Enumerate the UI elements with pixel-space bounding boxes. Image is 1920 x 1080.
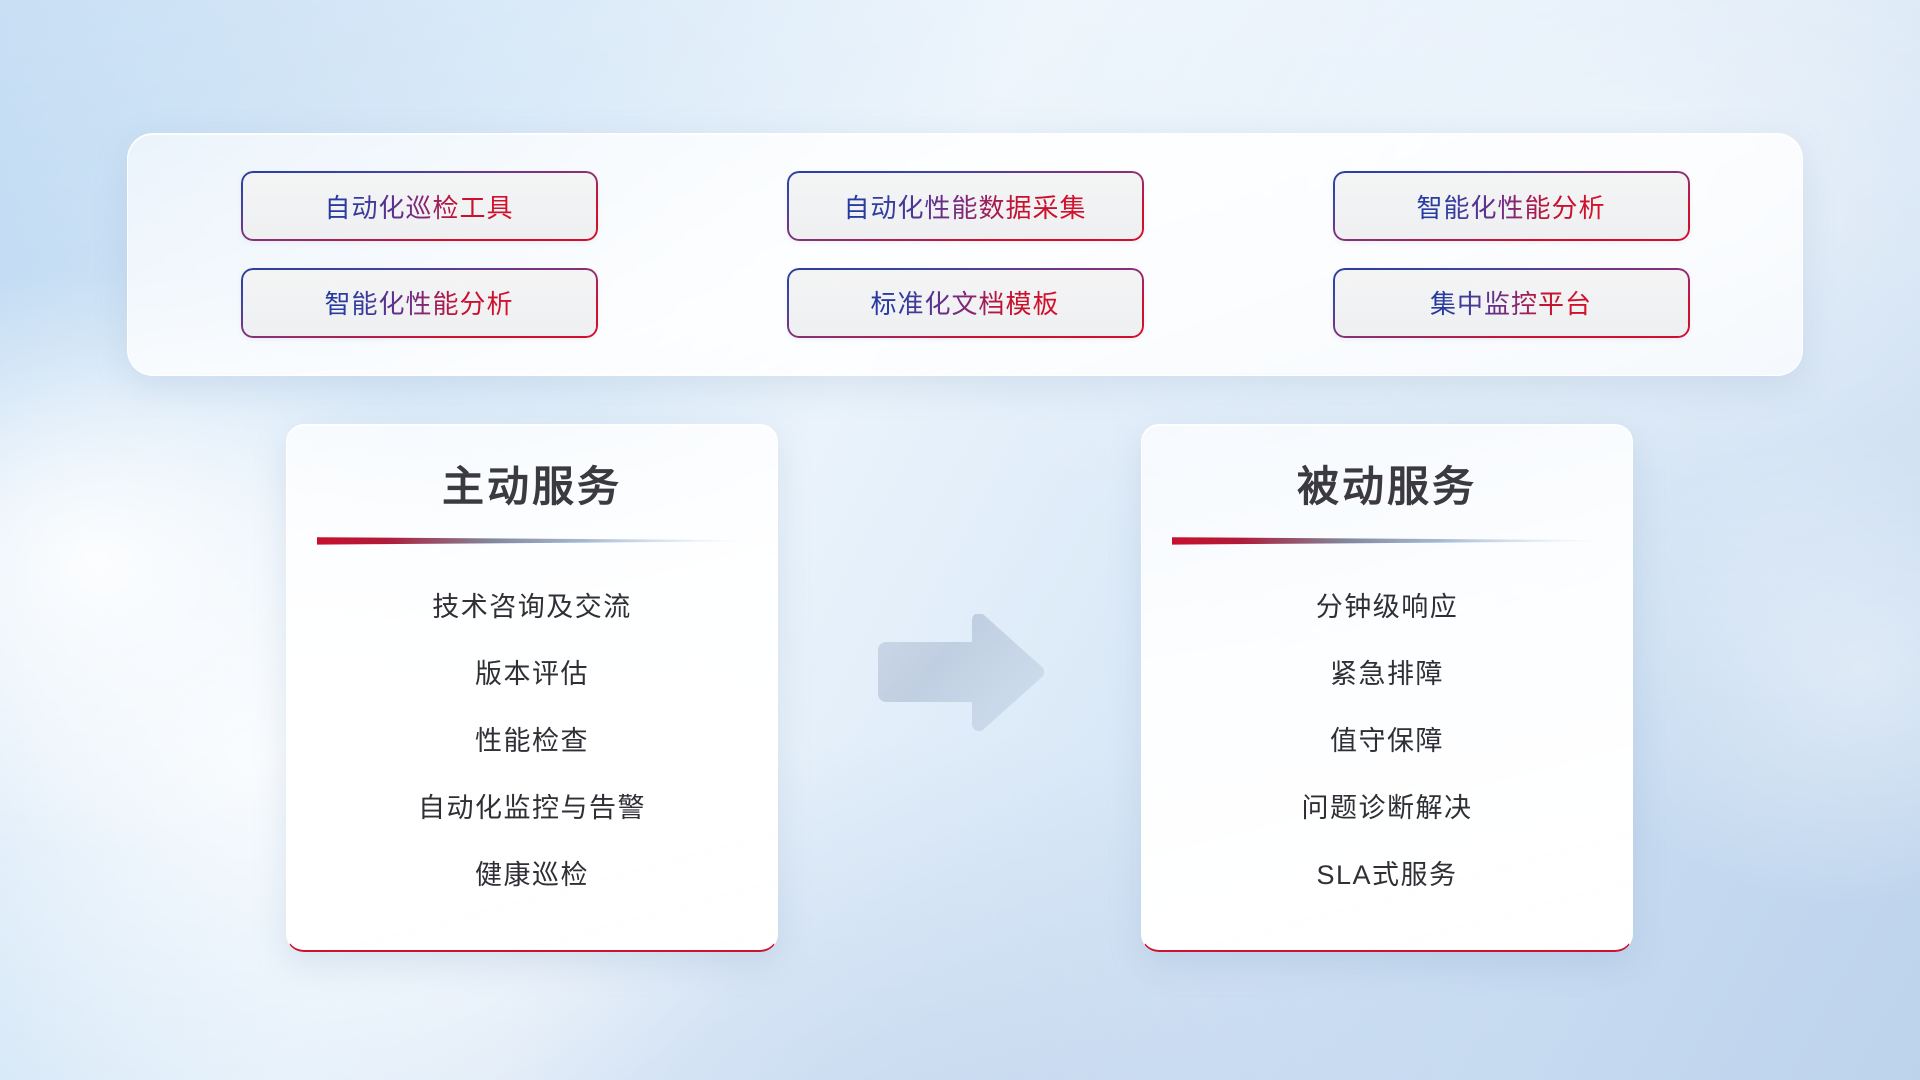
list-item[interactable]: 分钟级响应	[1142, 571, 1632, 638]
right-arrow-icon	[872, 614, 1048, 732]
list-item[interactable]: 版本评估	[287, 638, 777, 705]
capability-chip-label: 集中监控平台	[1430, 284, 1592, 321]
list-item[interactable]: 技术咨询及交流	[287, 571, 777, 638]
card-item-list: 技术咨询及交流 版本评估 性能检查 自动化监控与告警 健康巡检	[287, 571, 777, 906]
list-item[interactable]: 紧急排障	[1142, 638, 1632, 705]
capability-chip-4[interactable]: 智能化性能分析	[241, 268, 598, 338]
card-item-list: 分钟级响应 紧急排障 值守保障 问题诊断解决 SLA式服务	[1142, 571, 1632, 906]
capability-chip-label: 自动化性能数据采集	[843, 188, 1086, 225]
capability-panel: 自动化巡检工具 自动化性能数据采集 智能化性能分析 智能化性能分析 标准化文档模…	[127, 133, 1803, 376]
list-item[interactable]: 自动化监控与告警	[287, 772, 777, 839]
capability-chip-2[interactable]: 自动化性能数据采集	[787, 171, 1144, 241]
capability-chip-5[interactable]: 标准化文档模板	[787, 268, 1144, 338]
capability-chip-1[interactable]: 自动化巡检工具	[241, 171, 598, 241]
capability-chip-label: 标准化文档模板	[870, 284, 1059, 321]
list-item[interactable]: 健康巡检	[287, 839, 777, 906]
capability-chip-6[interactable]: 集中监控平台	[1333, 268, 1690, 338]
capability-chip-3[interactable]: 智能化性能分析	[1333, 171, 1690, 241]
list-item[interactable]: 问题诊断解决	[1142, 772, 1632, 839]
list-item[interactable]: SLA式服务	[1142, 839, 1632, 906]
list-item[interactable]: 性能检查	[287, 705, 777, 772]
title-divider	[317, 536, 747, 545]
capability-chip-label: 智能化性能分析	[324, 284, 513, 321]
capability-chip-label: 自动化巡检工具	[324, 188, 513, 225]
card-title: 被动服务	[1297, 453, 1477, 514]
service-card-proactive: 主动服务 技术咨询及交流 版本评估 性能检查 自动化监控与告警 健康巡检	[286, 424, 778, 952]
title-divider	[1172, 536, 1602, 545]
list-item[interactable]: 值守保障	[1142, 705, 1632, 772]
capability-chip-label: 智能化性能分析	[1416, 188, 1605, 225]
service-card-reactive: 被动服务 分钟级响应 紧急排障 值守保障 问题诊断解决 SLA式服务	[1141, 424, 1633, 952]
card-title: 主动服务	[442, 453, 622, 514]
